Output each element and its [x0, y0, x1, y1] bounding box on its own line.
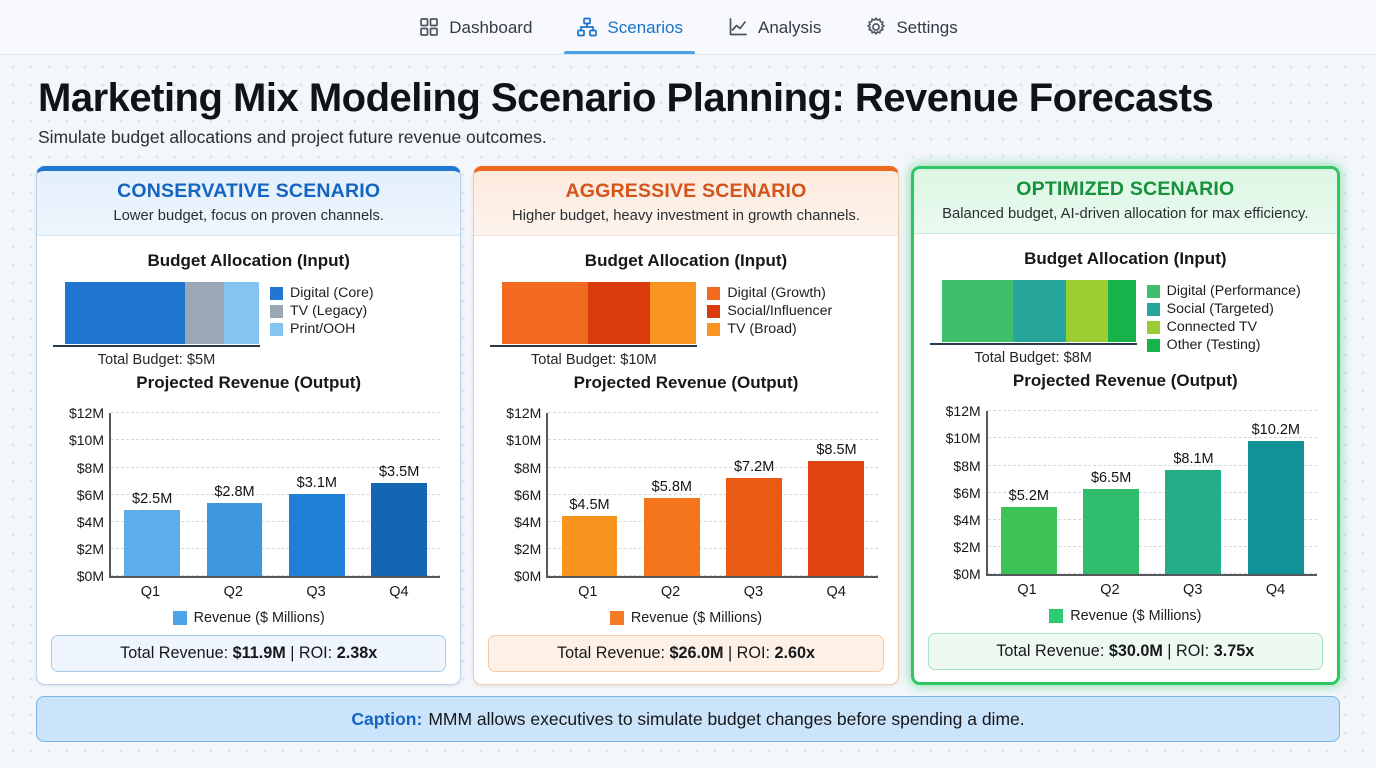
budget-total-label: Total Budget: $5M — [53, 352, 260, 368]
chart-bar[interactable] — [562, 516, 618, 576]
y-axis-tick-label: $4M — [514, 514, 541, 530]
x-axis-labels: Q1Q2Q3Q4 — [986, 582, 1317, 598]
y-axis-tick-label: $0M — [77, 568, 104, 584]
y-axis-tick-label: $0M — [953, 566, 980, 582]
budget-section-title: Budget Allocation (Input) — [928, 249, 1323, 269]
scenario-description: Higher budget, heavy investment in growt… — [484, 208, 887, 224]
page-header: Marketing Mix Modeling Scenario Planning… — [0, 55, 1376, 154]
budget-legend-item: Digital (Performance) — [1147, 283, 1321, 299]
chart-bar-column[interactable]: $3.5M — [371, 413, 427, 576]
budget-legend-item: Print/OOH — [270, 321, 444, 337]
y-axis-tick-label: $2M — [77, 541, 104, 557]
x-axis-tick-label: Q4 — [371, 584, 427, 600]
chart-bar-column[interactable]: $8.1M — [1165, 411, 1221, 574]
budget-legend: Digital (Core)TV (Legacy)Print/OOH — [270, 281, 444, 339]
budget-legend-item: Social (Targeted) — [1147, 301, 1321, 317]
roi-value: 2.60x — [774, 644, 815, 662]
scenario-summary-pill: Total Revenue: $30.0M | ROI: 3.75x — [928, 633, 1323, 670]
budget-bar-area: Total Budget: $10M — [490, 281, 697, 368]
bar-value-label: $10.2M — [1252, 422, 1300, 441]
chart-bar[interactable] — [207, 503, 263, 577]
y-axis-tick-label: $6M — [77, 487, 104, 503]
y-axis-tick-label: $6M — [953, 485, 980, 501]
budget-bar-area: Total Budget: $8M — [930, 279, 1137, 366]
page-subtitle: Simulate budget allocations and project … — [38, 127, 1376, 148]
x-axis-tick-label: Q2 — [205, 584, 261, 600]
budget-segment[interactable] — [588, 282, 650, 344]
chart-plot-area: $0M$2M$4M$6M$8M$10M$12M$2.5M$2.8M$3.1M$3… — [109, 413, 440, 578]
budget-legend-label: Social (Targeted) — [1167, 301, 1274, 317]
legend-swatch-icon — [1147, 321, 1160, 334]
x-axis-labels: Q1Q2Q3Q4 — [546, 584, 877, 600]
y-axis-tick-label: $2M — [514, 541, 541, 557]
scenario-card-header: CONSERVATIVE SCENARIOLower budget, focus… — [37, 171, 460, 236]
y-axis-tick-label: $8M — [77, 460, 104, 476]
budget-axis-line — [490, 345, 697, 347]
bar-value-label: $4.5M — [569, 497, 609, 516]
total-revenue-value: $30.0M — [1109, 642, 1163, 660]
chart-bar[interactable] — [726, 478, 782, 576]
total-revenue-prefix: Total Revenue: — [557, 644, 669, 662]
revenue-section-title: Projected Revenue (Output) — [928, 371, 1323, 391]
chart-plot-area: $0M$2M$4M$6M$8M$10M$12M$5.2M$6.5M$8.1M$1… — [986, 411, 1317, 576]
legend-swatch-icon — [270, 305, 283, 318]
legend-swatch-icon — [1147, 285, 1160, 298]
budget-legend-label: Digital (Core) — [290, 285, 374, 301]
x-axis-tick-label: Q1 — [560, 584, 616, 600]
bar-value-label: $3.1M — [297, 475, 337, 494]
chart-bar[interactable] — [289, 494, 345, 576]
x-axis-labels: Q1Q2Q3Q4 — [109, 584, 440, 600]
budget-segment[interactable] — [1013, 280, 1065, 342]
grid-icon — [418, 16, 440, 38]
scenario-card-body: Budget Allocation (Input)Total Budget: $… — [37, 236, 460, 684]
chart-bar[interactable] — [1083, 489, 1139, 574]
chart-plot-area: $0M$2M$4M$6M$8M$10M$12M$4.5M$5.8M$7.2M$8… — [546, 413, 877, 578]
roi-prefix: | ROI: — [723, 644, 774, 662]
budget-segment[interactable] — [65, 282, 185, 344]
x-axis-tick-label: Q4 — [808, 584, 864, 600]
bar-value-label: $7.2M — [734, 459, 774, 478]
y-axis-tick-label: $10M — [69, 432, 104, 448]
chart-bar[interactable] — [1001, 507, 1057, 574]
bar-value-label: $8.1M — [1173, 451, 1213, 470]
revenue-section-title: Projected Revenue (Output) — [51, 373, 446, 393]
budget-segment[interactable] — [502, 282, 587, 344]
x-axis-tick-label: Q1 — [999, 582, 1055, 598]
y-axis-tick-label: $2M — [953, 539, 980, 555]
chart-bar-column[interactable]: $7.2M — [726, 413, 782, 576]
scenario-title: OPTIMIZED SCENARIO — [924, 178, 1327, 201]
budget-axis-line — [53, 345, 260, 347]
revenue-chart-legend: Revenue ($ Millions) — [488, 610, 883, 626]
caption-text: MMM allows executives to simulate budget… — [428, 709, 1024, 730]
legend-swatch-icon — [270, 287, 283, 300]
x-axis-tick-label: Q1 — [122, 584, 178, 600]
roi-value: 3.75x — [1214, 642, 1255, 660]
revenue-bar-chart: $0M$2M$4M$6M$8M$10M$12M$4.5M$5.8M$7.2M$8… — [488, 405, 883, 610]
nav-item-scenarios[interactable]: Scenarios — [554, 0, 705, 54]
scenario-description: Balanced budget, AI-driven allocation fo… — [924, 206, 1327, 222]
scenario-cards-row: CONSERVATIVE SCENARIOLower budget, focus… — [0, 154, 1376, 685]
budget-segment[interactable] — [650, 282, 697, 344]
revenue-legend-label: Revenue ($ Millions) — [194, 610, 325, 626]
budget-legend-item: Digital (Core) — [270, 285, 444, 301]
y-axis-tick-label: $6M — [514, 487, 541, 503]
nav-label-analysis: Analysis — [758, 19, 821, 36]
budget-legend-label: TV (Legacy) — [290, 303, 367, 319]
chart-bar-column[interactable]: $5.2M — [1001, 411, 1057, 574]
roi-value: 2.38x — [337, 644, 378, 662]
budget-legend-label: Other (Testing) — [1167, 337, 1261, 353]
legend-swatch-icon — [610, 611, 624, 625]
budget-segment[interactable] — [942, 280, 1014, 342]
budget-allocation-chart: Total Budget: $5MDigital (Core)TV (Legac… — [51, 281, 446, 368]
nav-item-dashboard[interactable]: Dashboard — [396, 0, 554, 54]
total-revenue-value: $11.9M — [233, 644, 286, 662]
roi-prefix: | ROI: — [286, 644, 337, 662]
chart-bar[interactable] — [1165, 470, 1221, 574]
budget-segment[interactable] — [185, 282, 224, 344]
budget-total-label: Total Budget: $8M — [930, 350, 1137, 366]
legend-swatch-icon — [707, 287, 720, 300]
budget-allocation-chart: Total Budget: $8MDigital (Performance)So… — [928, 279, 1323, 366]
bar-value-label: $6.5M — [1091, 470, 1131, 489]
scenario-card-optimized[interactable]: OPTIMIZED SCENARIOBalanced budget, AI-dr… — [911, 166, 1340, 685]
chart-bars: $5.2M$6.5M$8.1M$10.2M — [988, 411, 1317, 574]
x-axis-tick-label: Q3 — [288, 584, 344, 600]
budget-legend: Digital (Growth)Social/InfluencerTV (Bro… — [707, 281, 881, 339]
chart-bar-column[interactable]: $3.1M — [289, 413, 345, 576]
legend-swatch-icon — [1147, 339, 1160, 352]
scenario-title: CONSERVATIVE SCENARIO — [47, 180, 450, 203]
scenario-card-conservative[interactable]: CONSERVATIVE SCENARIOLower budget, focus… — [36, 166, 461, 685]
chart-bar-column[interactable]: $6.5M — [1083, 411, 1139, 574]
y-axis-tick-label: $10M — [506, 432, 541, 448]
budget-legend-label: Social/Influencer — [727, 303, 832, 319]
caption-key: Caption: — [351, 709, 422, 730]
chart-bar-column[interactable]: $2.5M — [124, 413, 180, 576]
chart-bar[interactable] — [1248, 441, 1304, 575]
nav-label-dashboard: Dashboard — [449, 19, 532, 36]
budget-total-label: Total Budget: $10M — [490, 352, 697, 368]
scenario-description: Lower budget, focus on proven channels. — [47, 208, 450, 224]
x-axis-tick-label: Q2 — [1082, 582, 1138, 598]
legend-swatch-icon — [707, 305, 720, 318]
chart-bar[interactable] — [124, 510, 180, 576]
roi-prefix: | ROI: — [1163, 642, 1214, 660]
revenue-legend-label: Revenue ($ Millions) — [631, 610, 762, 626]
revenue-chart-legend: Revenue ($ Millions) — [928, 608, 1323, 624]
y-axis-tick-label: $0M — [514, 568, 541, 584]
chart-bar-column[interactable]: $2.8M — [207, 413, 263, 576]
scenario-card-header: AGGRESSIVE SCENARIOHigher budget, heavy … — [474, 171, 897, 236]
budget-legend-item: Other (Testing) — [1147, 337, 1321, 353]
scenario-title: AGGRESSIVE SCENARIO — [484, 180, 887, 203]
x-axis-tick-label: Q3 — [725, 584, 781, 600]
budget-legend-item: Connected TV — [1147, 319, 1321, 335]
revenue-section-title: Projected Revenue (Output) — [488, 373, 883, 393]
bar-value-label: $8.5M — [816, 442, 856, 461]
y-axis-tick-label: $10M — [946, 430, 981, 446]
chart-bar[interactable] — [808, 461, 864, 576]
nav-item-analysis[interactable]: Analysis — [705, 0, 843, 54]
legend-swatch-icon — [707, 323, 720, 336]
y-axis-tick-label: $12M — [69, 405, 104, 421]
scenario-card-body: Budget Allocation (Input)Total Budget: $… — [914, 234, 1337, 682]
y-axis-tick-label: $12M — [946, 403, 981, 419]
total-revenue-value: $26.0M — [669, 644, 723, 662]
budget-legend-label: TV (Broad) — [727, 321, 796, 337]
chart-bar-column[interactable]: $5.8M — [644, 413, 700, 576]
chart-bars: $2.5M$2.8M$3.1M$3.5M — [111, 413, 440, 576]
hierarchy-icon — [576, 16, 598, 38]
budget-segment[interactable] — [1066, 280, 1109, 342]
budget-section-title: Budget Allocation (Input) — [51, 251, 446, 271]
total-revenue-prefix: Total Revenue: — [120, 644, 232, 662]
chart-bar-column[interactable]: $4.5M — [562, 413, 618, 576]
budget-section-title: Budget Allocation (Input) — [488, 251, 883, 271]
legend-swatch-icon — [1147, 303, 1160, 316]
page-title: Marketing Mix Modeling Scenario Planning… — [38, 77, 1376, 120]
budget-segment[interactable] — [1108, 280, 1135, 342]
x-axis-tick-label: Q3 — [1165, 582, 1221, 598]
budget-segment[interactable] — [224, 282, 259, 344]
bar-value-label: $5.2M — [1009, 488, 1049, 507]
budget-axis-line — [930, 343, 1137, 345]
y-axis-tick-label: $8M — [953, 458, 980, 474]
top-navigation: Dashboard Scenarios Analysis — [0, 0, 1376, 55]
x-axis-tick-label: Q2 — [642, 584, 698, 600]
chart-bar[interactable] — [371, 483, 427, 576]
budget-legend-label: Connected TV — [1167, 319, 1257, 335]
y-axis-tick-label: $4M — [953, 512, 980, 528]
scenario-card-aggressive[interactable]: AGGRESSIVE SCENARIOHigher budget, heavy … — [473, 166, 898, 685]
gear-icon — [865, 16, 887, 38]
budget-stacked-bar — [941, 279, 1137, 343]
budget-legend-label: Digital (Performance) — [1167, 283, 1301, 299]
scenario-summary-pill: Total Revenue: $26.0M | ROI: 2.60x — [488, 635, 883, 672]
y-axis-tick-label: $12M — [506, 405, 541, 421]
bar-value-label: $5.8M — [652, 479, 692, 498]
chart-bar-column[interactable]: $10.2M — [1248, 411, 1304, 574]
chart-bars: $4.5M$5.8M$7.2M$8.5M — [548, 413, 877, 576]
nav-label-scenarios: Scenarios — [607, 19, 683, 36]
budget-allocation-chart: Total Budget: $10MDigital (Growth)Social… — [488, 281, 883, 368]
budget-stacked-bar — [64, 281, 260, 345]
legend-swatch-icon — [173, 611, 187, 625]
budget-bar-area: Total Budget: $5M — [53, 281, 260, 368]
budget-stacked-bar — [501, 281, 697, 345]
revenue-bar-chart: $0M$2M$4M$6M$8M$10M$12M$5.2M$6.5M$8.1M$1… — [928, 403, 1323, 608]
scenario-card-header: OPTIMIZED SCENARIOBalanced budget, AI-dr… — [914, 169, 1337, 234]
caption-bar: Caption: MMM allows executives to simula… — [36, 696, 1340, 742]
bar-value-label: $3.5M — [379, 464, 419, 483]
chart-bar-column[interactable]: $8.5M — [808, 413, 864, 576]
budget-legend-item: TV (Broad) — [707, 321, 881, 337]
y-axis-tick-label: $8M — [514, 460, 541, 476]
budget-legend-item: Digital (Growth) — [707, 285, 881, 301]
chart-bar[interactable] — [644, 498, 700, 576]
scenario-card-body: Budget Allocation (Input)Total Budget: $… — [474, 236, 897, 684]
revenue-legend-label: Revenue ($ Millions) — [1070, 608, 1201, 624]
budget-legend-item: Social/Influencer — [707, 303, 881, 319]
nav-item-settings[interactable]: Settings — [843, 0, 979, 54]
line-chart-icon — [727, 16, 749, 38]
bar-value-label: $2.8M — [214, 484, 254, 503]
budget-legend-label: Print/OOH — [290, 321, 355, 337]
x-axis-tick-label: Q4 — [1247, 582, 1303, 598]
scenario-summary-pill: Total Revenue: $11.9M | ROI: 2.38x — [51, 635, 446, 672]
legend-swatch-icon — [1049, 609, 1063, 623]
bar-value-label: $2.5M — [132, 491, 172, 510]
budget-legend: Digital (Performance)Social (Targeted)Co… — [1147, 279, 1321, 355]
revenue-bar-chart: $0M$2M$4M$6M$8M$10M$12M$2.5M$2.8M$3.1M$3… — [51, 405, 446, 610]
total-revenue-prefix: Total Revenue: — [996, 642, 1108, 660]
legend-swatch-icon — [270, 323, 283, 336]
y-axis-tick-label: $4M — [77, 514, 104, 530]
nav-label-settings: Settings — [896, 19, 957, 36]
budget-legend-item: TV (Legacy) — [270, 303, 444, 319]
budget-legend-label: Digital (Growth) — [727, 285, 826, 301]
revenue-chart-legend: Revenue ($ Millions) — [51, 610, 446, 626]
